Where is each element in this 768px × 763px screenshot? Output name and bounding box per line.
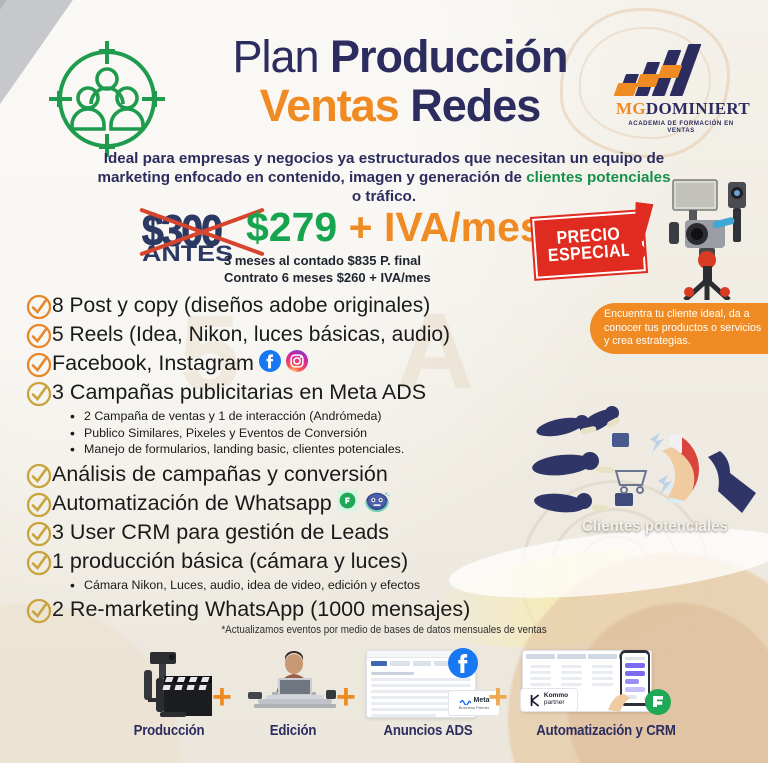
- callout-text: Encuentra tu cliente ideal, da a conocer…: [604, 308, 762, 349]
- list-item: 1 producción básica (cámara y luces): [26, 548, 546, 576]
- crm-dashboard-screenshot: Kommo partner: [506, 648, 706, 720]
- chatbot-icon: [363, 490, 391, 517]
- list-item: 5 Reels (Idea, Nikon, luces básicas, aud…: [26, 321, 546, 349]
- plus-separator-3: +: [488, 680, 508, 714]
- step-label: Anuncios ADS: [361, 722, 495, 739]
- title-line-1: Plan Producción: [170, 34, 630, 79]
- list-item: 3 User CRM para gestión de Leads: [26, 519, 546, 547]
- brand-logo: MGDOMINIERT ACADEMIA DE FORMACIÓN EN VEN…: [616, 44, 746, 134]
- feature-label: 3 User CRM para gestión de Leads: [52, 519, 389, 547]
- instagram-icon: [286, 350, 308, 377]
- leads-caption: Clientes potenciales: [568, 518, 743, 536]
- check-circle-icon: [26, 352, 52, 378]
- check-circle-icon: [26, 463, 52, 489]
- title-word-plan: Plan: [232, 31, 330, 82]
- price-terms: 3 meses al contado $835 P. final Contrat…: [224, 253, 544, 286]
- price-amount: $279: [246, 204, 337, 250]
- feature-label: 5 Reels (Idea, Nikon, luces básicas, aud…: [52, 321, 450, 348]
- ads-manager-screenshot: Meta Business Partner: [352, 648, 504, 720]
- title-line-2: Ventas Redes: [170, 83, 630, 128]
- sublist-item: Publico Similares, Pixeles y Eventos de …: [70, 425, 546, 442]
- step-anuncios-ads: Meta Business Partner Anuncios ADS: [352, 648, 504, 739]
- footnote: *Actualizamos eventos por medio de bases…: [27, 624, 741, 636]
- list-item: 3 Campañas publicitarias en Meta ADS: [26, 379, 546, 407]
- feature-label: 2 Re-marketing WhatsApp (1000 mensajes): [52, 596, 470, 624]
- feature-label: Automatización de Whatsapp: [52, 490, 332, 518]
- logo-tagline: ACADEMIA DE FORMACIÓN EN VENTAS: [616, 120, 746, 134]
- current-price: $279 + IVA/mes: [246, 207, 536, 248]
- feature-label: Análisis de campañas y conversión: [52, 461, 388, 489]
- logo-dominiert: DOMINIERT: [646, 99, 750, 118]
- list-item: Análisis de campañas y conversión: [26, 461, 546, 489]
- feature-list: 8 Post y copy (diseños adobe originales)…: [26, 292, 546, 625]
- whatsapp-business-icon: [337, 490, 358, 516]
- feature-label: Facebook, Instagram: [52, 350, 254, 378]
- check-circle-icon: [26, 492, 52, 518]
- feature-label: 8 Post y copy (diseños adobe originales): [52, 292, 430, 319]
- price-iva-label: + IVA/mes: [337, 204, 542, 250]
- poster-subtitle: Ideal para empresas y negocios ya estruc…: [96, 150, 672, 207]
- price-term-2: Contrato 6 meses $260 + IVA/mes: [224, 270, 544, 287]
- facebook-icon: [259, 350, 281, 377]
- feature-sublist: 2 Campaña de ventas y 1 de interacción (…: [70, 408, 546, 458]
- step-automatizacion-crm: Kommo partner: [506, 648, 706, 739]
- feature-label: 3 Campañas publicitarias en Meta ADS: [52, 379, 426, 407]
- check-circle-icon: [26, 381, 52, 407]
- camera-rig-photo: [655, 172, 763, 300]
- poster-title: Plan Producción Ventas Redes: [170, 34, 630, 128]
- title-word-produccion: Producción: [330, 31, 568, 82]
- callout-box: Encuentra tu cliente ideal, da a conocer…: [590, 303, 768, 354]
- sublist-item: Manejo de formularios, landing basic, cl…: [70, 441, 546, 458]
- facebook-icon: [448, 648, 478, 683]
- sublist-item: 2 Campaña de ventas y 1 de interacción (…: [70, 408, 546, 425]
- list-item: Facebook, Instagram: [26, 350, 546, 378]
- check-circle-icon: [26, 550, 52, 576]
- promo-poster: 5 A: [0, 0, 768, 763]
- list-item: 8 Post y copy (diseños adobe originales): [26, 292, 546, 320]
- check-circle-icon: [26, 598, 52, 624]
- kommo-partner-badge: Kommo partner: [520, 688, 578, 712]
- check-circle-icon: [26, 294, 52, 320]
- title-word-redes: Redes: [410, 80, 540, 131]
- subtitle-highlight: clientes potenciales: [526, 169, 670, 186]
- step-label: Automatización y CRM: [518, 722, 694, 739]
- sublist-item: Cámara Nikon, Luces, audio, idea de vide…: [70, 577, 546, 594]
- logo-mg: MG: [616, 99, 646, 118]
- logo-bars-icon: [616, 44, 746, 96]
- step-label: Producción: [112, 722, 226, 739]
- poster-header: Plan Producción Ventas Redes MGDOMINIERT…: [0, 0, 768, 148]
- logo-wordmark: MGDOMINIERT: [616, 99, 746, 119]
- target-audience-icon: [46, 38, 168, 160]
- step-label: Edición: [236, 722, 350, 739]
- list-item: 2 Re-marketing WhatsApp (1000 mensajes): [26, 596, 546, 624]
- bottom-steps: Producción + E: [0, 636, 768, 763]
- feature-label: 1 producción básica (cámara y luces): [52, 548, 408, 576]
- check-circle-icon: [26, 323, 52, 349]
- title-word-ventas: Ventas: [260, 80, 411, 131]
- check-circle-icon: [26, 521, 52, 547]
- feature-sublist: Cámara Nikon, Luces, audio, idea de vide…: [70, 577, 546, 594]
- price-term-1: 3 meses al contado $835 P. final: [224, 253, 544, 270]
- subtitle-part2: o tráfico.: [352, 188, 416, 205]
- list-item: Automatización de Whatsapp: [26, 490, 546, 518]
